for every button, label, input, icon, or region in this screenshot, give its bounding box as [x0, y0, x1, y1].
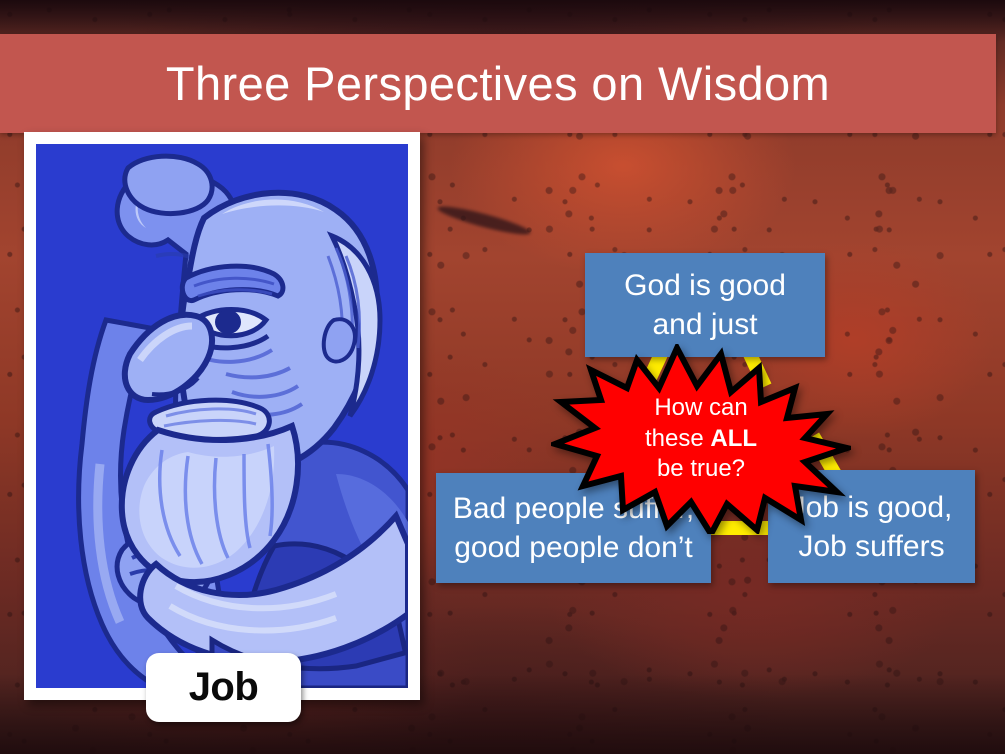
page-title: Three Perspectives on Wisdom — [0, 34, 996, 133]
portrait-caption: Job — [146, 653, 301, 722]
portrait-caption-label: Job — [189, 665, 259, 710]
title-banner: Three Perspectives on Wisdom — [0, 34, 996, 133]
statement-line-2: and just — [624, 305, 786, 344]
portrait-frame — [24, 132, 420, 700]
job-elderly-man-with-staff-illustration — [36, 144, 408, 688]
starburst-callout: How can these ALL be true? — [551, 344, 851, 534]
statement-box-god-is-good: God is good and just — [585, 253, 825, 357]
statement-line-1: God is good — [624, 266, 786, 305]
starburst-shape-icon — [551, 344, 851, 534]
slide: Three Perspectives on Wisdom — [0, 0, 1005, 754]
